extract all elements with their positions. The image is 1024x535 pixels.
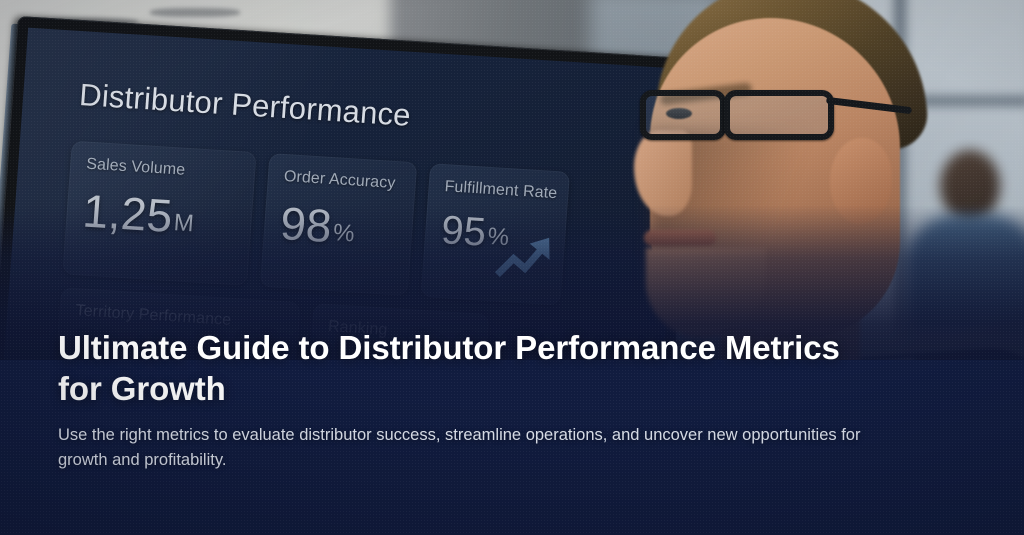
page-title: Ultimate Guide to Distributor Performanc…: [58, 327, 888, 410]
kpi-label: Sales Volume: [86, 156, 240, 184]
whiteboard-mark: [150, 8, 240, 17]
eyeglass-lens-right: [724, 90, 834, 140]
eyeglass-lens-left: [640, 90, 726, 140]
dashboard-title: Distributor Performance: [78, 77, 412, 134]
kpi-label: Order Accuracy: [283, 168, 400, 193]
hero-copy: Ultimate Guide to Distributor Performanc…: [58, 327, 888, 473]
page-subtitle: Use the right metrics to evaluate distri…: [58, 423, 888, 473]
kpi-label: Fulfillment Rate: [444, 178, 553, 203]
eyeglasses-icon: [638, 88, 848, 146]
hero-banner: Distributor Performance Sales Volume 1,2…: [0, 0, 1024, 535]
